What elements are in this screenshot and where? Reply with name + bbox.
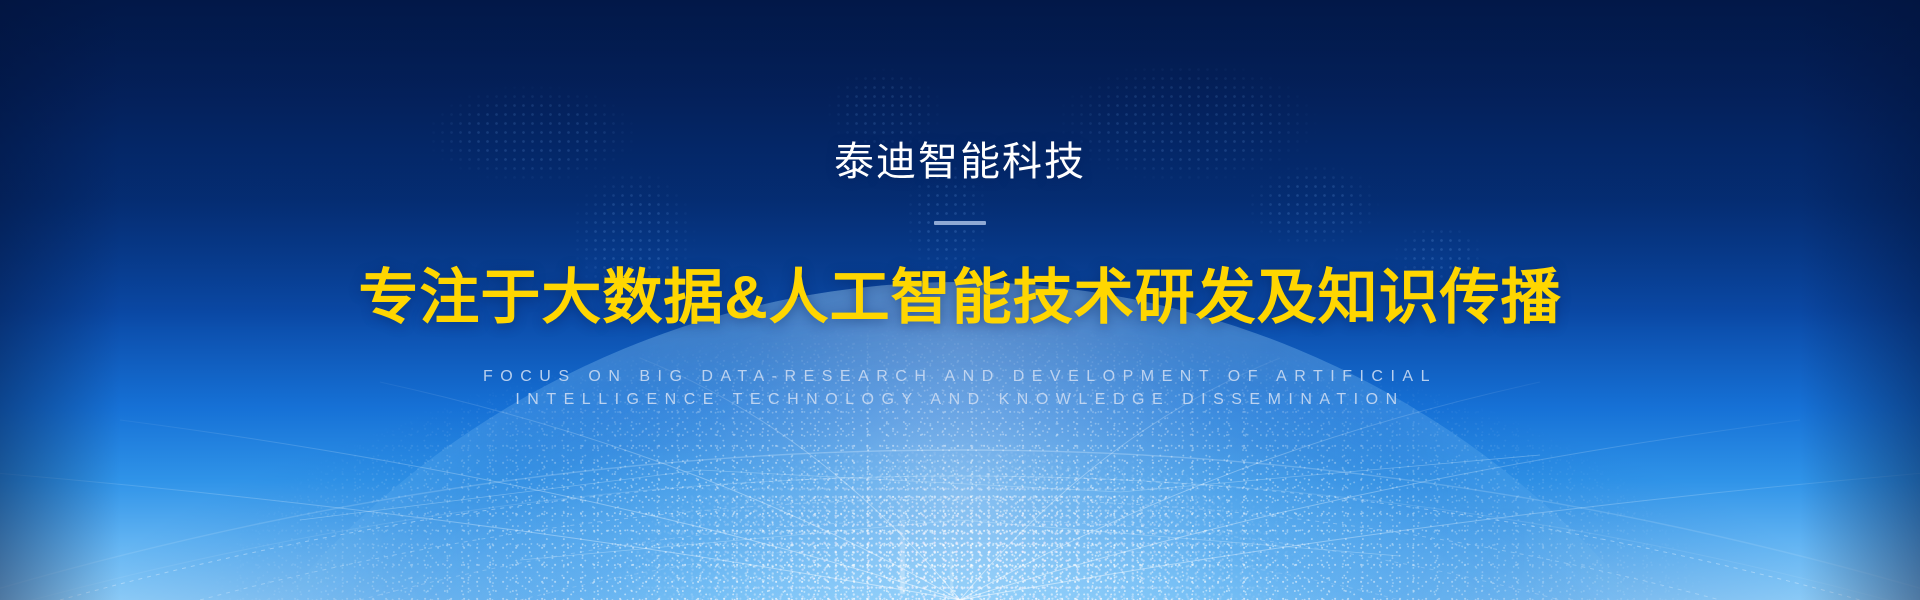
subtitle-english: FOCUS ON BIG DATA-RESEARCH AND DEVELOPME… <box>0 365 1920 411</box>
title-divider <box>934 221 986 225</box>
city-towers-icon <box>780 444 1140 594</box>
subtitle-line-1: FOCUS ON BIG DATA-RESEARCH AND DEVELOPME… <box>483 368 1437 385</box>
hero-banner: 泰迪智能科技 专注于大数据&人工智能技术研发及知识传播 FOCUS ON BIG… <box>0 0 1920 600</box>
headline-slogan: 专注于大数据&人工智能技术研发及知识传播 <box>0 262 1920 334</box>
subtitle-line-2: INTELLIGENCE TECHNOLOGY AND KNOWLEDGE DI… <box>0 388 1920 411</box>
company-name: 泰迪智能科技 <box>0 138 1920 186</box>
